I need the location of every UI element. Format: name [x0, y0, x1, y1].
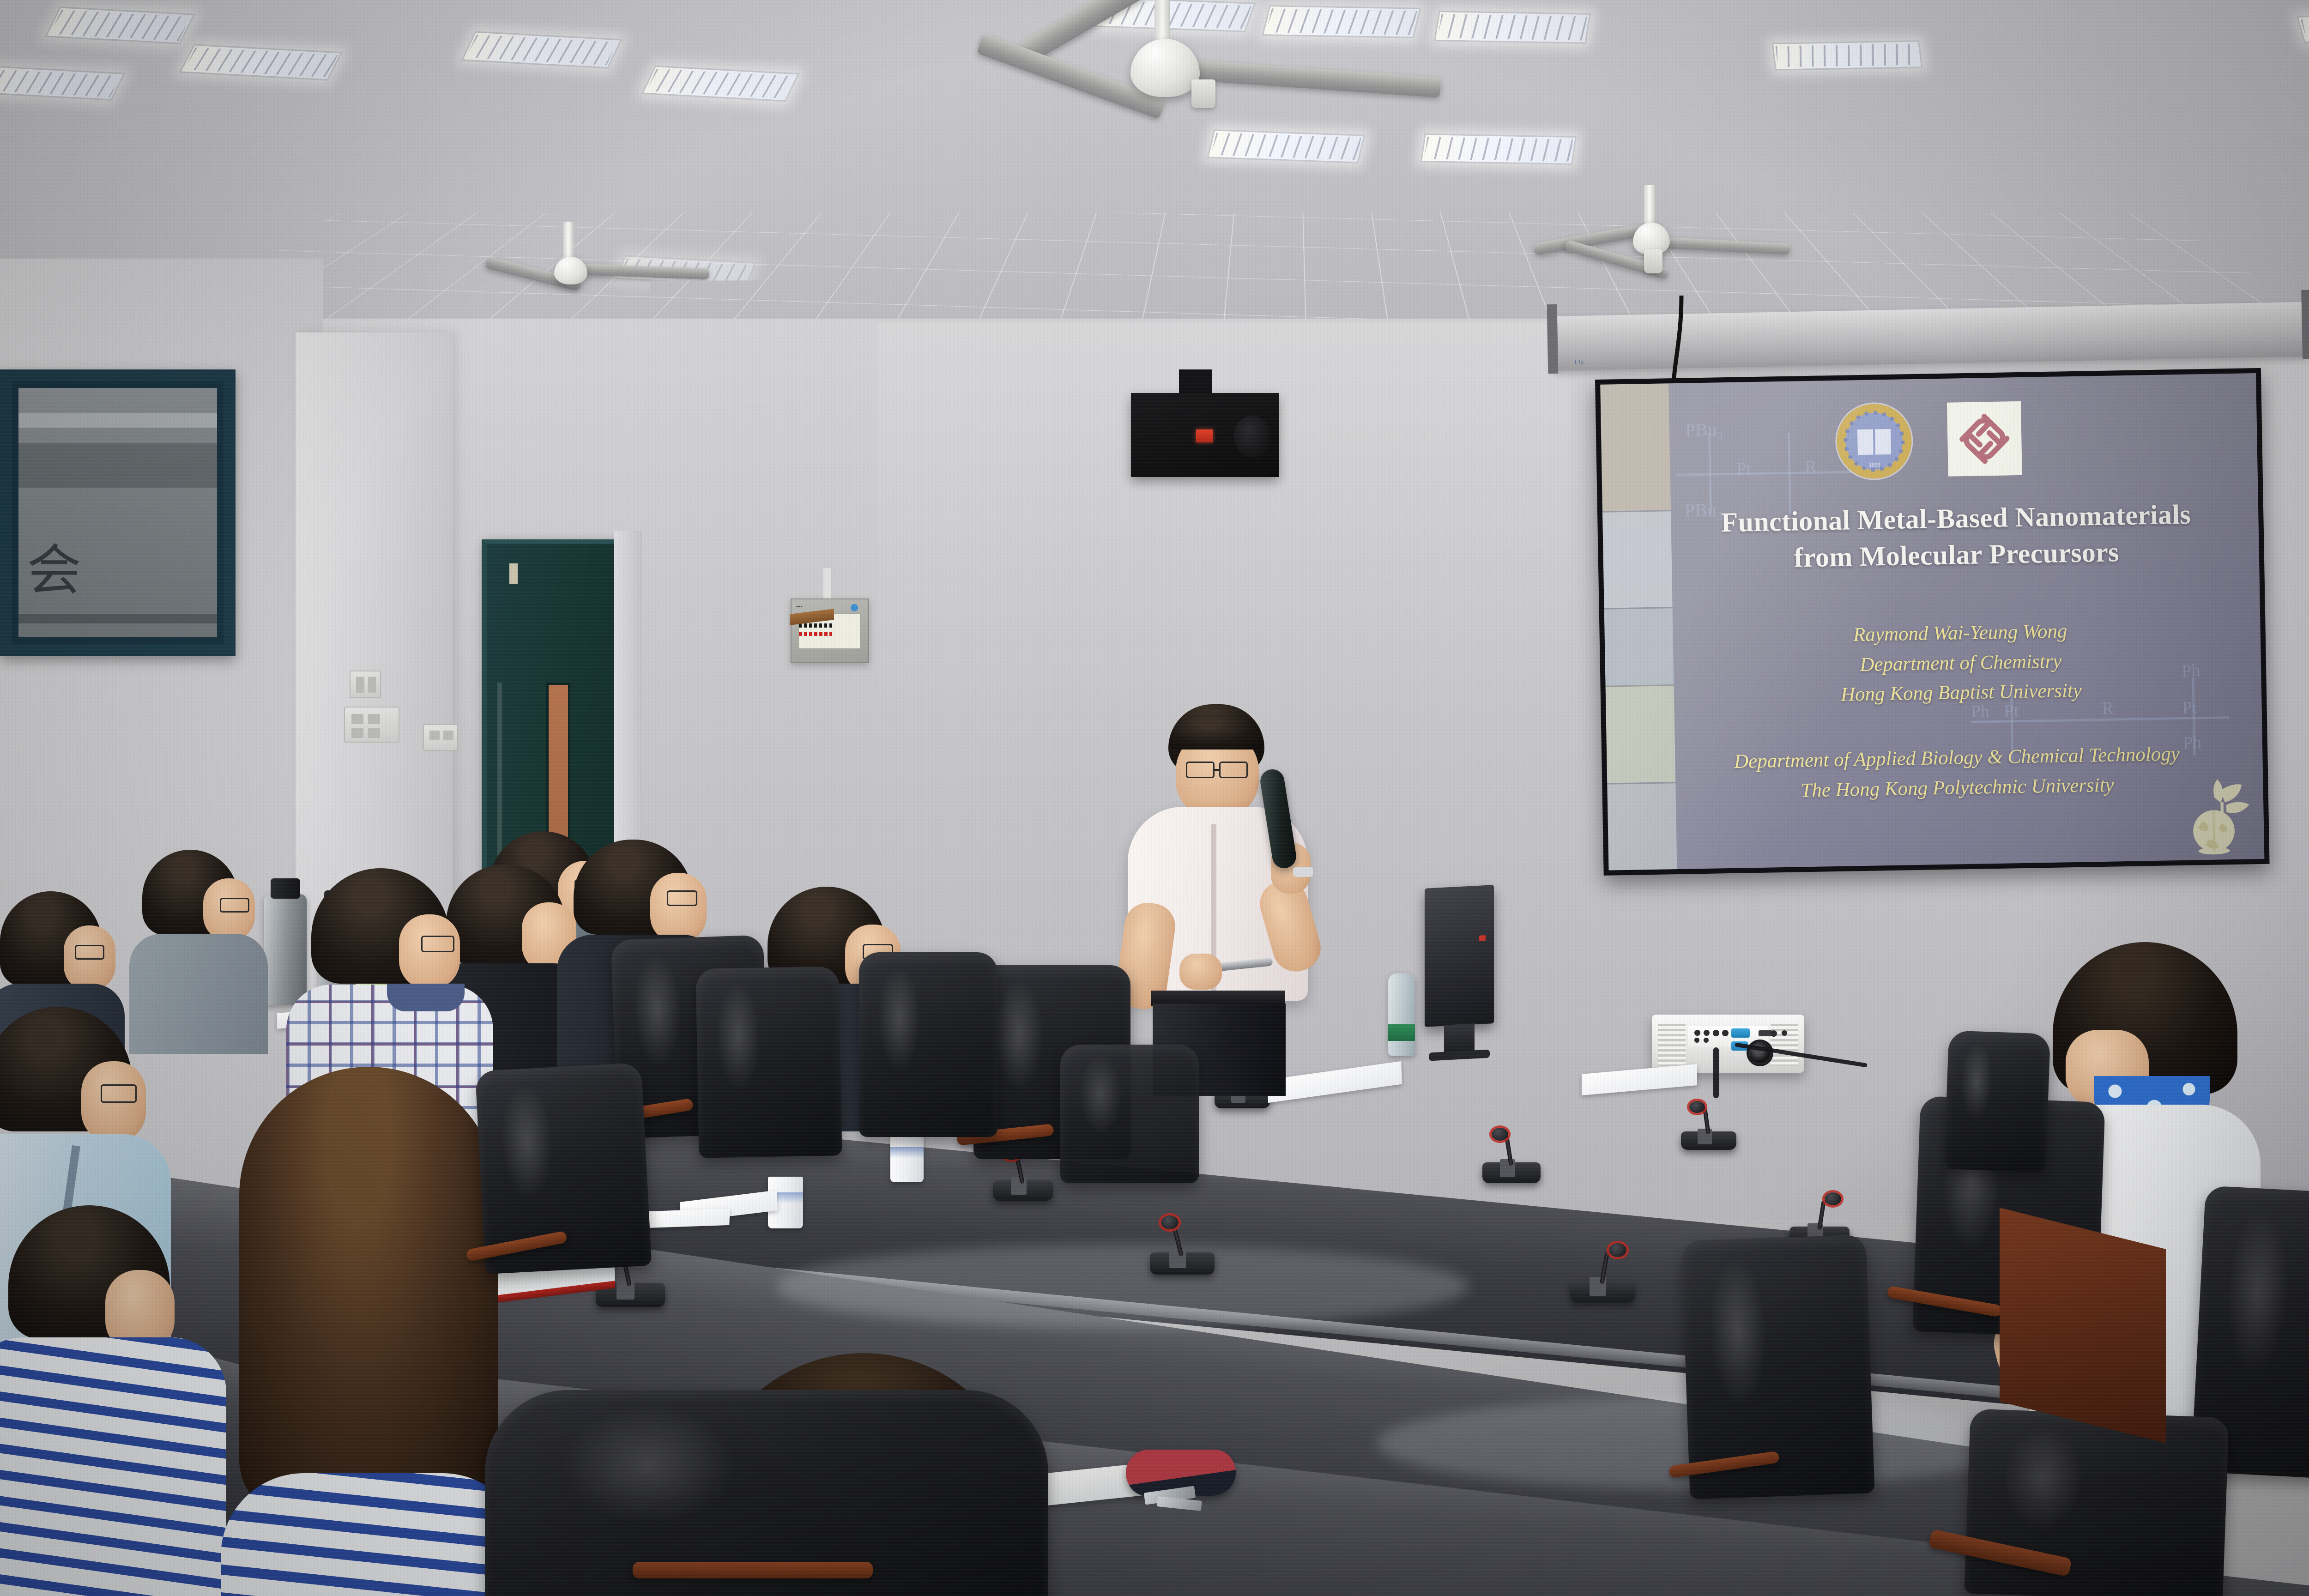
- interior-window: 会: [0, 369, 236, 656]
- polyu-knot-icon: [1955, 409, 2014, 468]
- panel-indicator-icon: [851, 604, 858, 611]
- projection-screen: PBu₃ PBu₃ Pt R Ph Pt R Ph Pt Ph 1956: [1595, 368, 2270, 876]
- projector-port-icon: [1722, 1030, 1729, 1036]
- power-outlet-plate[interactable]: [344, 707, 399, 743]
- speaker-led-icon: [1196, 429, 1213, 442]
- gooseneck-conference-microphone[interactable]: [1150, 1219, 1215, 1275]
- office-chair[interactable]: [859, 952, 997, 1137]
- slide-affiliation-block: Department of Applied Biology & Chemical…: [1657, 738, 2257, 808]
- breaker-row-icon: [799, 623, 832, 628]
- gooseneck-conference-microphone[interactable]: [1570, 1247, 1635, 1302]
- projector-cable: [1713, 1047, 1719, 1098]
- water-bottle[interactable]: [1388, 973, 1415, 1056]
- seminar-room-photo: 会 ▪▪▪▪ Lfx: [0, 0, 2309, 1596]
- light-switch-plate[interactable]: [350, 671, 381, 698]
- table-reflection: [776, 1245, 1469, 1328]
- gooseneck-conference-microphone[interactable]: [1482, 1131, 1541, 1183]
- shirt-collar: [387, 984, 465, 1011]
- fluorescent-light-panel: [1772, 40, 1923, 71]
- table-wood-side: [2000, 1208, 2166, 1443]
- list-item: [0, 1205, 231, 1596]
- presenter-wristwatch-icon: [1293, 867, 1313, 877]
- presenter: [1110, 704, 1323, 1083]
- speaker-cone-icon: [1234, 416, 1271, 458]
- speaker-bracket: [1179, 369, 1212, 396]
- door-plate-icon: [509, 563, 518, 584]
- fluorescent-light-panel: [1207, 129, 1366, 163]
- gooseneck-conference-microphone[interactable]: [1681, 1104, 1736, 1150]
- office-chair[interactable]: [1964, 1409, 2229, 1596]
- document-sheet[interactable]: [646, 1209, 730, 1228]
- projector-port-icon: [1713, 1030, 1719, 1036]
- office-chair[interactable]: [1060, 1045, 1199, 1183]
- office-chair[interactable]: [695, 966, 842, 1158]
- panel-conduit: [823, 568, 831, 601]
- monitor-stand: [1444, 1023, 1475, 1052]
- slide-logo-row: 1956: [1601, 397, 2258, 484]
- striped-shirt: [0, 1337, 226, 1596]
- smoke-detector-icon: [1644, 249, 1662, 273]
- ceiling-fan: [1478, 185, 1819, 291]
- presenter-glasses-icon: [1186, 762, 1215, 778]
- office-chair[interactable]: [475, 1063, 652, 1274]
- breaker-red-row-icon: [799, 632, 832, 636]
- globe-with-leaves-icon: [2179, 776, 2254, 856]
- polyu-knot-logo: [1947, 401, 2022, 477]
- ceiling-fan: [480, 222, 739, 309]
- wall-sheen: [877, 323, 1570, 739]
- fan-blade: [571, 264, 710, 279]
- power-outlet-plate[interactable]: [423, 724, 458, 751]
- electrical-panel[interactable]: ▪▪▪▪: [791, 598, 869, 663]
- presenter-hair-front: [1169, 715, 1263, 750]
- microphone-head-icon: [1689, 1101, 1705, 1113]
- microphone-head-icon: [1492, 1128, 1508, 1141]
- paper-cup[interactable]: [890, 1132, 924, 1182]
- slide-title: Functional Metal-Based Nanomaterials fro…: [1663, 495, 2249, 578]
- window-character-label: 会: [27, 543, 81, 598]
- microphone-head-icon: [1609, 1243, 1626, 1257]
- ceiling-white-projector[interactable]: [1652, 1015, 1804, 1073]
- fluorescent-light-panel: [1420, 133, 1577, 165]
- microphone-head-icon: [1161, 1215, 1179, 1229]
- microphone-head-icon: [1825, 1192, 1841, 1205]
- slide-author-block: Raymond Wai-Yeung Wong Department of Che…: [1674, 613, 2248, 713]
- screen-brand-label: Lfx: [1575, 359, 1584, 366]
- long-hair: [239, 1067, 498, 1519]
- flat-panel-monitor[interactable]: [1425, 885, 1494, 1027]
- hkbu-seal-year: 1956: [1837, 462, 1912, 469]
- projector-blue-connector: [1731, 1028, 1750, 1038]
- projector-port-icon: [1782, 1030, 1787, 1036]
- projector-port-icon: [1704, 1030, 1710, 1036]
- presenter-hand-left: [1179, 954, 1222, 990]
- window-glass: 会: [18, 388, 217, 637]
- hkbu-seal-logo: 1956: [1836, 403, 1912, 479]
- ceiling-fan: [956, 0, 1602, 129]
- office-chair[interactable]: [1681, 1234, 1874, 1499]
- presentation-slide: PBu₃ PBu₃ Pt R Ph Pt R Ph Pt Ph 1956: [1600, 373, 2264, 871]
- monitor-power-led-icon: [1479, 935, 1486, 941]
- panel-label: ▪▪▪▪: [796, 604, 802, 609]
- smoke-detector-icon: [1191, 79, 1215, 108]
- office-chair[interactable]: [1944, 1030, 2050, 1172]
- fan-blade: [1651, 236, 1790, 255]
- office-chair[interactable]: [485, 1390, 1048, 1596]
- presenter-glasses-icon: [1219, 762, 1248, 778]
- presenter-glasses-bridge: [1215, 769, 1220, 771]
